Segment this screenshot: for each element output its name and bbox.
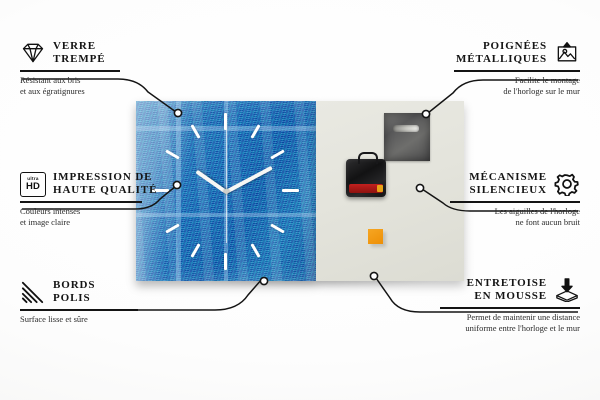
metal-hanger-plate <box>384 113 430 161</box>
callout-header: ultra HD IMPRESSION DE HAUTE QUALITÉ <box>20 171 170 197</box>
pattern-line <box>136 126 316 131</box>
callout-title: VERRE TREMPÉ <box>53 40 105 66</box>
hour-hand <box>195 170 227 194</box>
callout-title: BORDS POLIS <box>53 279 95 305</box>
callout-header: VERRE TREMPÉ <box>20 40 150 66</box>
battery-plus-terminal <box>377 185 383 192</box>
callout-title: MÉCANISME SILENCIEUX <box>469 171 547 197</box>
hour-marker <box>165 149 179 159</box>
press-down-foam-icon <box>554 278 580 302</box>
callout-title: POIGNÉES MÉTALLIQUES <box>456 40 547 66</box>
quartz-mechanism <box>346 159 386 197</box>
hour-marker <box>270 223 284 233</box>
callout-subtitle-2: de l'horloge sur le mur <box>420 86 580 97</box>
beveled-edge-icon <box>20 280 46 304</box>
callout-verre-trempe[interactable]: VERRE TREMPÉ Résistant aux bris et aux é… <box>20 40 150 97</box>
callout-rule <box>450 201 580 203</box>
pattern-line <box>224 101 228 281</box>
ultra-hd-icon-bottom-label: HD <box>26 182 40 192</box>
hour-marker <box>270 149 284 159</box>
callout-rule <box>20 70 120 72</box>
hour-marker <box>224 253 227 270</box>
callout-header: BORDS POLIS <box>20 279 160 305</box>
callout-rule <box>20 201 142 203</box>
diamond-icon <box>20 41 46 65</box>
picture-frame-hanger-icon <box>554 41 580 65</box>
hour-marker <box>190 124 200 138</box>
callout-subtitle-1: Facilite le montage <box>420 75 580 86</box>
callout-subtitle-1: Les aiguilles de l'horloge <box>420 206 580 217</box>
hour-marker <box>224 113 227 130</box>
callout-subtitle-1: Couleurs intenses <box>20 206 170 217</box>
callout-subtitle-2: uniforme entre l'horloge et le mur <box>410 323 580 334</box>
callout-subtitle-1: Permet de maintenir une distance <box>410 312 580 323</box>
ultra-hd-icon: ultra HD <box>20 172 46 197</box>
callout-subtitle-2: ne font aucun bruit <box>420 217 580 228</box>
product-photo <box>136 101 464 281</box>
foam-spacer <box>368 229 383 244</box>
callout-title: ENTRETOISE EN MOUSSE <box>467 277 547 303</box>
pattern-line <box>176 101 181 281</box>
minute-hand <box>225 166 273 194</box>
callout-mecanisme-silencieux[interactable]: MÉCANISME SILENCIEUX Les aiguilles de l'… <box>420 171 580 228</box>
callout-header: POIGNÉES MÉTALLIQUES <box>420 40 580 66</box>
callout-bords-polis[interactable]: BORDS POLIS Surface lisse et sûre <box>20 279 160 325</box>
hour-marker <box>250 124 260 138</box>
callout-impression-haute-qualite[interactable]: ultra HD IMPRESSION DE HAUTE QUALITÉ Cou… <box>20 171 170 228</box>
callout-rule <box>440 307 580 309</box>
callout-header: MÉCANISME SILENCIEUX <box>420 171 580 197</box>
callout-subtitle-2: et image claire <box>20 217 170 228</box>
callout-subtitle-2: et aux égratignures <box>20 86 150 97</box>
hands-center-pin <box>224 189 229 194</box>
callout-rule <box>20 309 138 311</box>
callout-header: ENTRETOISE EN MOUSSE <box>410 277 580 303</box>
hour-marker <box>190 243 200 257</box>
gear-icon <box>554 172 580 196</box>
hour-marker <box>282 189 299 192</box>
infographic-stage: VERRE TREMPÉ Résistant aux bris et aux é… <box>0 0 600 400</box>
hour-marker <box>250 243 260 257</box>
callout-entretoise-en-mousse[interactable]: ENTRETOISE EN MOUSSE Permet de maintenir… <box>410 277 580 334</box>
callout-subtitle-1: Surface lisse et sûre <box>20 314 160 325</box>
callout-poignees-metalliques[interactable]: POIGNÉES MÉTALLIQUES Facilite le montage… <box>420 40 580 97</box>
callout-subtitle-1: Résistant aux bris <box>20 75 150 86</box>
hanger-loop-icon <box>358 152 378 164</box>
callout-title: IMPRESSION DE HAUTE QUALITÉ <box>53 171 157 197</box>
second-hand <box>226 121 227 243</box>
callout-rule <box>454 70 580 72</box>
